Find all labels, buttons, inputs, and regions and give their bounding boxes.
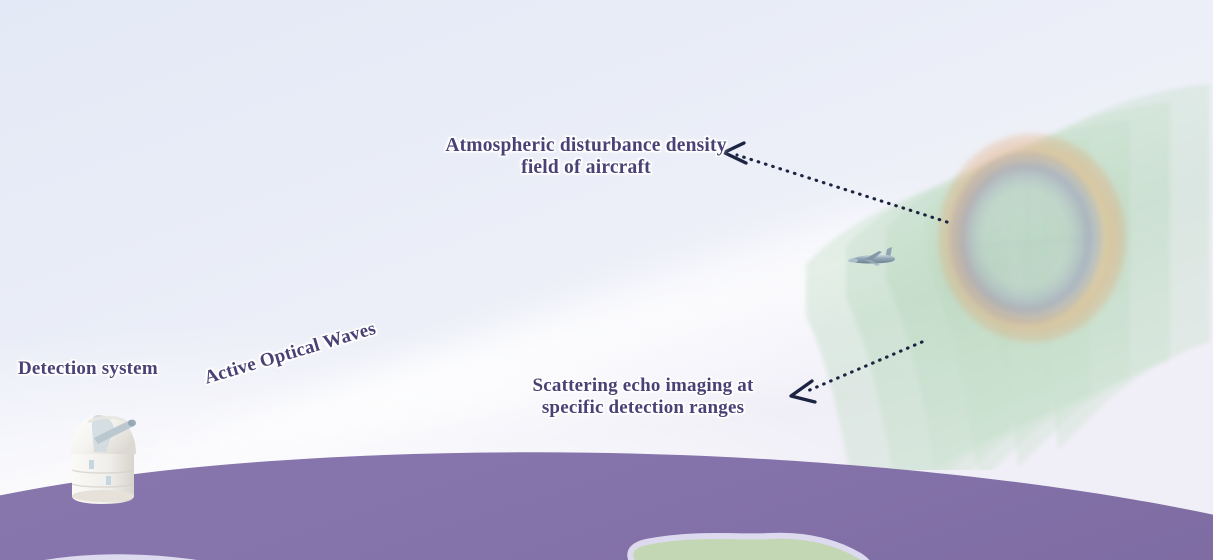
label-scattering-echo-imaging: Scattering echo imaging at specific dete… bbox=[500, 375, 786, 419]
observatory-dome-telescope bbox=[58, 408, 148, 508]
scattering-ring-pattern bbox=[936, 132, 1128, 344]
label-detection-system: Detection system bbox=[18, 358, 198, 380]
figure-canvas: Atmospheric disturbance density field of… bbox=[0, 0, 1213, 560]
aircraft-silhouette bbox=[845, 243, 907, 277]
density-field-slice-stack bbox=[760, 40, 1213, 470]
label-atmospheric-disturbance-field: Atmospheric disturbance density field of… bbox=[408, 135, 764, 180]
earth-surface-horizon bbox=[0, 420, 1213, 560]
